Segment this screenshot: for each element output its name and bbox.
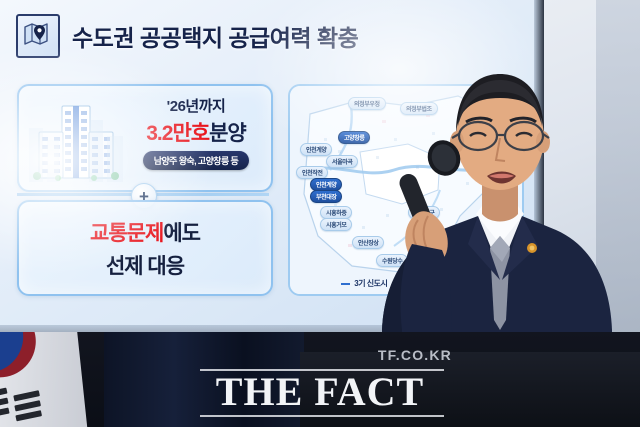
supply-year-label: '26년까지 [167, 95, 226, 116]
legend-swatch-icon [341, 283, 350, 285]
supply-text-block: '26년까지 3.2만호분양 남양주 왕숙, 고양창릉 등 [123, 92, 269, 184]
screenshot-root: 수도권 공공택지 공급여력 확충 [0, 0, 640, 427]
map-label: 서울마곡 [326, 155, 358, 168]
supply-amount: 3.2만호 [146, 122, 209, 145]
traffic-line-1-rest: 에도 [163, 222, 200, 245]
map-label: 시흥거모 [320, 218, 352, 231]
watermark-site: TF.CO.KR [378, 347, 452, 363]
watermark: TF.CO.KR THE FACT [186, 345, 454, 417]
city-skyline-ghost [27, 106, 125, 182]
trigram-bar [15, 410, 42, 421]
map-label: 고양창릉 [338, 131, 370, 144]
map-label: 인천계양 [300, 143, 332, 156]
status-badge: 남양주 왕숙, 고양창릉 등 [143, 151, 249, 170]
watermark-brand: THE FACT [186, 369, 454, 415]
supply-amount-suffix: 분양 [209, 122, 246, 145]
trigram-bar [0, 407, 10, 418]
traffic-line-2: 선제 대응 [106, 250, 184, 280]
traffic-highlight: 교통문제 [90, 222, 163, 245]
traffic-line-1: 교통문제에도 [90, 217, 200, 247]
traffic-text-block: 교통문제에도 선제 대응 [19, 202, 271, 294]
flag-field [0, 332, 87, 427]
map-label: 부천대장 [310, 190, 342, 203]
card-traffic-response: 교통문제에도 선제 대응 [17, 200, 273, 296]
map-pin-icon [16, 14, 60, 58]
supply-amount-line: 3.2만호분양 [146, 117, 245, 147]
apartment-building-illustration [27, 92, 125, 184]
page-title: 수도권 공공택지 공급여력 확충 [72, 19, 358, 53]
watermark-rule-bottom [200, 415, 444, 417]
korean-national-flag [0, 332, 104, 427]
card-housing-supply: '26년까지 3.2만호분양 남양주 왕숙, 고양창릉 등 [17, 84, 273, 192]
